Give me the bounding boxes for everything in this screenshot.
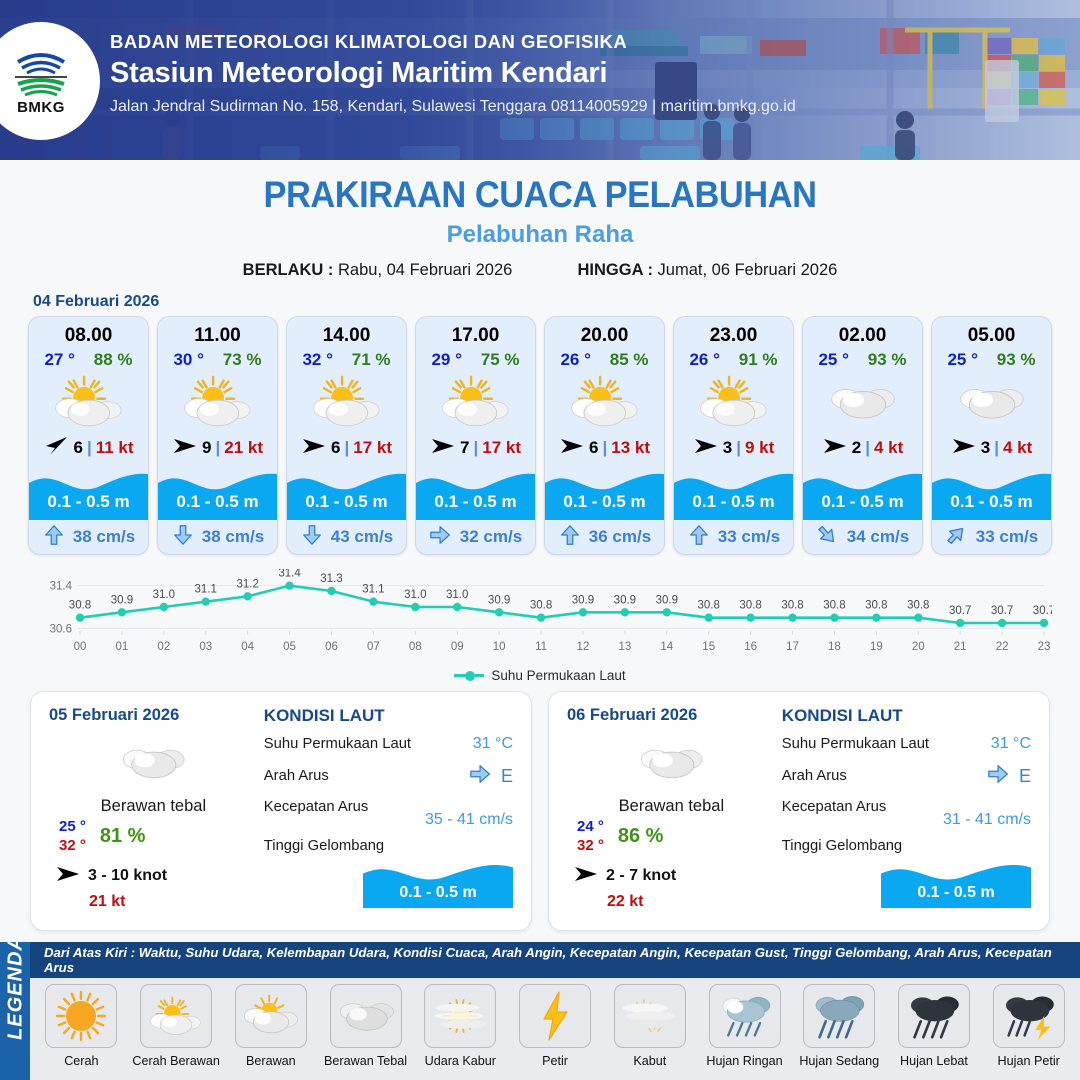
daily-wind-speed: 3 - 10 knot [88, 867, 167, 885]
legend-note: Dari Atas Kiri : Waktu, Suhu Udara, Kele… [30, 942, 1080, 978]
wind-direction-arrow [55, 864, 81, 889]
legend-item: Hujan Petir [981, 984, 1076, 1068]
card-separator: | [865, 438, 870, 458]
card-temp-humidity: 25 ° 93 % [803, 347, 922, 370]
card-separator: | [87, 438, 92, 458]
daily-condition: Berawan tebal [49, 797, 258, 816]
svg-text:30.9: 30.9 [614, 594, 636, 606]
lightning-icon [519, 984, 591, 1048]
agency-name: BADAN METEOROLOGI KLIMATOLOGI DAN GEOFIS… [110, 30, 796, 55]
current-direction-arrow [987, 762, 1011, 790]
svg-text:30.9: 30.9 [656, 594, 678, 606]
legend-item-label: Hujan Petir [998, 1054, 1060, 1068]
chart-legend: Suhu Permukaan Laut [0, 668, 1080, 683]
card-wave-height: 0.1 - 0.5 m [287, 492, 406, 512]
card-time: 05.00 [932, 317, 1051, 347]
forecast-card[interactable]: 05.00 25 ° 93 % 3 | 4 kt 0.1 - 0.5 m 33 … [931, 316, 1052, 555]
daily-temp-max: 32 ° [59, 837, 86, 856]
wind-arrow-icon [693, 436, 719, 456]
sst-row: Suhu Permukaan Laut 31 °C [782, 735, 1031, 753]
forecast-card-row: 08.00 27 ° 88 % 6 | 11 kt 0.1 - 0.5 m [0, 316, 1080, 555]
current-direction-label: Arah Arus [264, 768, 329, 784]
current-direction-arrow [42, 523, 66, 552]
card-temperature: 29 ° [431, 350, 461, 370]
card-wave-height: 0.1 - 0.5 m [932, 492, 1051, 512]
card-current: 43 cm/s [287, 520, 406, 554]
svg-text:22: 22 [996, 641, 1009, 653]
card-humidity: 93 % [997, 350, 1036, 370]
daily-wave-height: 0.1 - 0.5 m [881, 884, 1031, 902]
wave-height-label: Tinggi Gelombang [782, 838, 902, 854]
legend-item: Kabut [602, 984, 697, 1068]
card-current: 32 cm/s [416, 520, 535, 554]
current-arrow-icon [469, 762, 493, 786]
sst-row: Suhu Permukaan Laut 31 °C [264, 735, 513, 753]
cloud-sun-icon [235, 984, 307, 1048]
card-time: 17.00 [416, 317, 535, 347]
current-arrow-icon [300, 523, 324, 547]
daily-temp-min: 24 ° [577, 818, 604, 837]
card-humidity: 85 % [610, 350, 649, 370]
current-direction-arrow [469, 762, 493, 790]
card-wind: 2 | 4 kt [803, 432, 922, 464]
card-wind: 3 | 9 kt [674, 432, 793, 464]
card-current: 34 cm/s [803, 520, 922, 554]
svg-text:07: 07 [367, 641, 380, 653]
current-direction-arrow [687, 523, 711, 552]
legend-item-label: Berawan Tebal [324, 1054, 407, 1068]
card-temperature: 27 ° [44, 350, 74, 370]
card-wave: 0.1 - 0.5 m [29, 464, 148, 520]
current-arrow-icon [687, 523, 711, 547]
light-rain-icon [709, 984, 781, 1048]
svg-text:09: 09 [451, 641, 464, 653]
wind-arrow-icon [43, 435, 69, 457]
wind-direction-arrow [430, 436, 456, 461]
wind-arrow-icon [55, 864, 81, 884]
daily-humidity: 81 % [100, 825, 146, 848]
card-humidity: 73 % [223, 350, 262, 370]
svg-text:30.8: 30.8 [865, 600, 887, 612]
card-temp-humidity: 26 ° 85 % [545, 347, 664, 370]
heavy-cloud-icon [330, 984, 402, 1048]
svg-text:12: 12 [577, 641, 590, 653]
svg-text:21: 21 [954, 641, 967, 653]
card-time: 08.00 [29, 317, 148, 347]
current-arrow-icon [171, 523, 195, 547]
legend-item-label: Hujan Ringan [706, 1054, 782, 1068]
card-wave-height: 0.1 - 0.5 m [674, 492, 793, 512]
card-humidity: 91 % [739, 350, 778, 370]
card-gust: 17 kt [353, 438, 392, 458]
legend-sidebar-label: LEGENDA [5, 930, 28, 1046]
forecast-card[interactable]: 14.00 32 ° 71 % 6 | 17 kt 0.1 - 0.5 m [286, 316, 407, 555]
svg-text:30.7: 30.7 [949, 605, 971, 617]
sun-cloud-icon [158, 372, 277, 432]
legend-item: Hujan Ringan [697, 984, 792, 1068]
card-wave-height: 0.1 - 0.5 m [545, 492, 664, 512]
card-current-speed: 33 cm/s [718, 527, 780, 547]
legend-item-label: Kabut [633, 1054, 666, 1068]
card-separator: | [344, 438, 349, 458]
svg-text:13: 13 [618, 641, 631, 653]
daily-panel-right: KONDISI LAUT Suhu Permukaan Laut 31 °C A… [258, 706, 513, 916]
svg-text:08: 08 [409, 641, 422, 653]
daily-panel-left: 06 Februari 2026 Berawan tebal 24 ° 32 °… [567, 706, 776, 916]
card-current-speed: 34 cm/s [847, 527, 909, 547]
wind-arrow-icon [822, 436, 848, 456]
sst-value: 31 °C [473, 735, 513, 753]
valid-until-label: HINGGA : [577, 261, 652, 279]
sst-label: Suhu Permukaan Laut [782, 736, 929, 752]
current-direction-row: Arah Arus E [264, 762, 513, 790]
wind-direction-arrow [822, 436, 848, 461]
current-arrow-icon [429, 523, 453, 547]
current-direction-arrow [171, 523, 195, 552]
card-gust: 4 kt [874, 438, 903, 458]
svg-text:30.9: 30.9 [572, 594, 594, 606]
fog-icon [614, 984, 686, 1048]
daily-humidity: 86 % [618, 825, 664, 848]
svg-text:30.9: 30.9 [111, 594, 133, 606]
svg-text:04: 04 [241, 641, 254, 653]
card-current-speed: 36 cm/s [589, 527, 651, 547]
card-gust: 13 kt [611, 438, 650, 458]
card-wind-direction: 3 [723, 438, 732, 458]
sea-condition-title: KONDISI LAUT [782, 706, 1031, 726]
card-wind-direction: 6 [73, 438, 82, 458]
haze-icon [424, 984, 496, 1048]
card-time: 20.00 [545, 317, 664, 347]
svg-text:30.8: 30.8 [69, 600, 91, 612]
card-current-speed: 43 cm/s [331, 527, 393, 547]
heavy-rain-icon [898, 984, 970, 1048]
daily-gust: 22 kt [567, 893, 776, 911]
current-speed-label: Kecepatan Arus [782, 799, 886, 815]
forecast-card[interactable]: 17.00 29 ° 75 % 7 | 17 kt 0.1 - 0.5 m [415, 316, 536, 555]
card-wind: 9 | 21 kt [158, 432, 277, 464]
sun-cloud-icon [29, 372, 148, 432]
daily-wind: 3 - 10 knot [49, 864, 258, 889]
card-separator: | [473, 438, 478, 458]
valid-from-label: BERLAKU : [243, 261, 334, 279]
sun-cloud-icon [140, 984, 212, 1048]
moderate-rain-icon [803, 984, 875, 1048]
card-time: 23.00 [674, 317, 793, 347]
svg-text:06: 06 [325, 641, 338, 653]
card-wind-direction: 9 [202, 438, 211, 458]
card-humidity: 71 % [352, 350, 391, 370]
svg-text:31.1: 31.1 [362, 584, 384, 596]
sea-condition-title: KONDISI LAUT [264, 706, 513, 726]
svg-text:31.0: 31.0 [404, 589, 426, 601]
wind-direction-arrow [172, 436, 198, 461]
daily-panel-right: KONDISI LAUT Suhu Permukaan Laut 31 °C A… [776, 706, 1031, 916]
card-wind-direction: 6 [589, 438, 598, 458]
daily-panel-left: 05 Februari 2026 Berawan tebal 25 ° 32 °… [49, 706, 258, 916]
card-wind-direction: 2 [852, 438, 861, 458]
card-wave-height: 0.1 - 0.5 m [803, 492, 922, 512]
forecast-date-label: 04 Februari 2026 [33, 293, 1080, 311]
card-wind-direction: 3 [981, 438, 990, 458]
card-temp-humidity: 25 ° 93 % [932, 347, 1051, 370]
legend-item-label: Petir [542, 1054, 568, 1068]
current-arrow-icon [558, 523, 582, 547]
card-wind: 6 | 13 kt [545, 432, 664, 464]
forecast-card[interactable]: 08.00 27 ° 88 % 6 | 11 kt 0.1 - 0.5 m [28, 316, 149, 555]
card-current-speed: 32 cm/s [460, 527, 522, 547]
svg-text:18: 18 [828, 641, 841, 653]
daily-date: 06 Februari 2026 [567, 706, 776, 725]
current-direction-arrow [945, 523, 969, 552]
current-direction-arrow [558, 523, 582, 552]
svg-text:19: 19 [870, 641, 883, 653]
card-time: 14.00 [287, 317, 406, 347]
card-current-speed: 33 cm/s [976, 527, 1038, 547]
wave-height-row: Tinggi Gelombang [264, 838, 513, 854]
wind-arrow-icon [573, 864, 599, 884]
svg-text:01: 01 [116, 641, 129, 653]
card-gust: 21 kt [224, 438, 263, 458]
svg-text:30.8: 30.8 [781, 600, 803, 612]
card-temp-humidity: 29 ° 75 % [416, 347, 535, 370]
station-address: Jalan Jendral Sudirman No. 158, Kendari,… [110, 95, 796, 120]
cloud-icon [567, 731, 776, 793]
wind-arrow-icon [301, 436, 327, 456]
cloud-icon [49, 731, 258, 793]
card-current: 33 cm/s [674, 520, 793, 554]
legend-item-label: Hujan Sedang [799, 1054, 879, 1068]
card-wave: 0.1 - 0.5 m [416, 464, 535, 520]
sst-value: 31 °C [991, 735, 1031, 753]
svg-text:31.0: 31.0 [446, 589, 468, 601]
legend-section: LEGENDA Dari Atas Kiri : Waktu, Suhu Uda… [0, 942, 1080, 1080]
svg-text:30.9: 30.9 [488, 594, 510, 606]
svg-text:30.8: 30.8 [907, 600, 929, 612]
card-wind: 7 | 17 kt [416, 432, 535, 464]
svg-text:17: 17 [786, 641, 799, 653]
current-direction-arrow [816, 523, 840, 552]
card-current: 38 cm/s [158, 520, 277, 554]
daily-date: 05 Februari 2026 [49, 706, 258, 725]
svg-text:30.7: 30.7 [1033, 605, 1052, 617]
sst-chart-svg: 30.631.400010203040506070809101112131415… [28, 569, 1052, 664]
daily-wind-speed: 2 - 7 knot [606, 867, 676, 885]
wind-direction-arrow [693, 436, 719, 461]
svg-text:23: 23 [1038, 641, 1051, 653]
current-direction-value: E [1019, 766, 1031, 787]
card-temp-humidity: 30 ° 73 % [158, 347, 277, 370]
legend-item: Berawan Tebal [318, 984, 413, 1068]
svg-text:31.2: 31.2 [236, 578, 258, 590]
forecast-card[interactable]: 02.00 25 ° 93 % 2 | 4 kt 0.1 - 0.5 m 34 … [802, 316, 923, 555]
current-direction-row: Arah Arus E [782, 762, 1031, 790]
card-temperature: 32 ° [302, 350, 332, 370]
page-title: PRAKIRAAN CUACA PELABUHAN [38, 174, 1042, 216]
legend-item: Hujan Lebat [887, 984, 982, 1068]
forecast-card[interactable]: 11.00 30 ° 73 % 9 | 21 kt 0.1 - 0.5 m [157, 316, 278, 555]
svg-text:31.0: 31.0 [153, 589, 175, 601]
card-current-speed: 38 cm/s [73, 527, 135, 547]
daily-temp-max: 32 ° [577, 837, 604, 856]
card-time: 02.00 [803, 317, 922, 347]
current-speed-label: Kecepatan Arus [264, 799, 368, 815]
svg-text:00: 00 [74, 641, 87, 653]
card-temperature: 25 ° [947, 350, 977, 370]
legend-sidebar: LEGENDA [0, 942, 30, 1080]
card-wave: 0.1 - 0.5 m [545, 464, 664, 520]
sun-cloud-icon [287, 372, 406, 432]
chart-legend-marker [454, 674, 484, 677]
legend-item: Cerah [34, 984, 129, 1068]
svg-text:30.8: 30.8 [823, 600, 845, 612]
card-temp-humidity: 32 ° 71 % [287, 347, 406, 370]
card-current-speed: 38 cm/s [202, 527, 264, 547]
card-wave-height: 0.1 - 0.5 m [416, 492, 535, 512]
daily-condition: Berawan tebal [567, 797, 776, 816]
card-temperature: 30 ° [173, 350, 203, 370]
svg-text:14: 14 [660, 641, 673, 653]
svg-text:11: 11 [535, 641, 547, 653]
sun-cloud-icon [545, 372, 664, 432]
card-temperature: 26 ° [560, 350, 590, 370]
current-direction-arrow [429, 523, 453, 552]
card-wave: 0.1 - 0.5 m [158, 464, 277, 520]
wind-arrow-icon [430, 436, 456, 456]
svg-text:30.7: 30.7 [991, 605, 1013, 617]
sst-chart: 30.631.400010203040506070809101112131415… [28, 569, 1052, 664]
cloud-icon [932, 372, 1051, 432]
card-current: 33 cm/s [932, 520, 1051, 554]
legend-item: Cerah Berawan [129, 984, 224, 1068]
card-time: 11.00 [158, 317, 277, 347]
svg-text:20: 20 [912, 641, 925, 653]
card-wind-direction: 7 [460, 438, 469, 458]
card-gust: 4 kt [1003, 438, 1032, 458]
card-temp-humidity: 27 ° 88 % [29, 347, 148, 370]
legend-item: Udara Kabur [413, 984, 508, 1068]
card-humidity: 88 % [94, 350, 133, 370]
card-gust: 9 kt [745, 438, 774, 458]
current-direction-arrow [300, 523, 324, 552]
card-temperature: 26 ° [689, 350, 719, 370]
svg-text:16: 16 [744, 641, 757, 653]
legend-item: Hujan Sedang [792, 984, 887, 1068]
svg-text:31.4: 31.4 [50, 581, 73, 593]
card-separator: | [736, 438, 741, 458]
svg-text:31.1: 31.1 [195, 584, 217, 596]
page-header: BMKG BADAN METEOROLOGI KLIMATOLOGI DAN G… [0, 0, 1080, 160]
daily-gust: 21 kt [49, 893, 258, 911]
valid-until-value: Jumat, 06 Februari 2026 [658, 261, 838, 279]
title-block: PRAKIRAAN CUACA PELABUHAN Pelabuhan Raha… [0, 160, 1080, 280]
wind-arrow-icon [559, 436, 585, 456]
card-current: 36 cm/s [545, 520, 664, 554]
legend-item-label: Udara Kabur [425, 1054, 496, 1068]
current-arrow-icon [987, 762, 1011, 786]
valid-from-value: Rabu, 04 Februari 2026 [338, 261, 512, 279]
header-text-block: BADAN METEOROLOGI KLIMATOLOGI DAN GEOFIS… [110, 30, 796, 119]
bmkg-logo-mark [10, 46, 72, 98]
wind-direction-arrow [301, 436, 327, 461]
svg-text:30.8: 30.8 [530, 600, 552, 612]
port-name: Pelabuhan Raha [0, 221, 1080, 249]
card-wave-height: 0.1 - 0.5 m [29, 492, 148, 512]
daily-temp-block: 24 ° 32 ° 86 % [567, 818, 776, 856]
daily-wave-graphic: 0.1 - 0.5 m [881, 856, 1031, 908]
sun-cloud-icon [674, 372, 793, 432]
legend-item: Petir [508, 984, 603, 1068]
svg-text:05: 05 [283, 641, 296, 653]
daily-wave-height: 0.1 - 0.5 m [363, 884, 513, 902]
svg-text:15: 15 [702, 641, 715, 653]
svg-text:02: 02 [157, 641, 170, 653]
current-arrow-icon [945, 523, 969, 547]
current-direction-value: E [501, 766, 513, 787]
sst-label: Suhu Permukaan Laut [264, 736, 411, 752]
chart-legend-label: Suhu Permukaan Laut [491, 668, 625, 683]
legend-item-label: Hujan Lebat [900, 1054, 968, 1068]
card-wave-height: 0.1 - 0.5 m [158, 492, 277, 512]
card-humidity: 75 % [481, 350, 520, 370]
svg-text:30.8: 30.8 [739, 600, 761, 612]
svg-text:10: 10 [493, 641, 506, 653]
svg-text:03: 03 [199, 641, 212, 653]
svg-text:31.3: 31.3 [320, 573, 342, 585]
validity-row: BERLAKU : Rabu, 04 Februari 2026 HINGGA … [0, 261, 1080, 280]
bmkg-logo-text: BMKG [17, 99, 65, 116]
card-wave: 0.1 - 0.5 m [674, 464, 793, 520]
forecast-card[interactable]: 23.00 26 ° 91 % 3 | 9 kt 0.1 - 0.5 m [673, 316, 794, 555]
daily-panel-row: 05 Februari 2026 Berawan tebal 25 ° 32 °… [0, 683, 1080, 931]
daily-temp-block: 25 ° 32 ° 81 % [49, 818, 258, 856]
current-direction-label: Arah Arus [782, 768, 847, 784]
svg-text:30.6: 30.6 [50, 623, 72, 635]
current-arrow-icon [42, 523, 66, 547]
legend-item-label: Cerah Berawan [132, 1054, 220, 1068]
wind-arrow-icon [172, 436, 198, 456]
wave-height-label: Tinggi Gelombang [264, 838, 384, 854]
card-wind: 6 | 17 kt [287, 432, 406, 464]
wind-direction-arrow [43, 435, 69, 462]
wind-direction-arrow [573, 864, 599, 889]
card-current: 38 cm/s [29, 520, 148, 554]
card-wave: 0.1 - 0.5 m [932, 464, 1051, 520]
card-temperature: 25 ° [818, 350, 848, 370]
legend-item-label: Berawan [246, 1054, 296, 1068]
card-wind: 3 | 4 kt [932, 432, 1051, 464]
svg-text:30.8: 30.8 [698, 600, 720, 612]
forecast-card[interactable]: 20.00 26 ° 85 % 6 | 13 kt 0.1 - 0.5 m [544, 316, 665, 555]
card-wave: 0.1 - 0.5 m [803, 464, 922, 520]
legend-item: Berawan [223, 984, 318, 1068]
thunderstorm-icon [993, 984, 1065, 1048]
card-separator: | [994, 438, 999, 458]
svg-text:31.4: 31.4 [278, 569, 301, 580]
card-humidity: 93 % [868, 350, 907, 370]
daily-wave-graphic: 0.1 - 0.5 m [363, 856, 513, 908]
card-wind: 6 | 11 kt [29, 432, 148, 464]
daily-forecast-panel[interactable]: 06 Februari 2026 Berawan tebal 24 ° 32 °… [548, 691, 1050, 931]
card-separator: | [602, 438, 607, 458]
daily-wind: 2 - 7 knot [567, 864, 776, 889]
wind-direction-arrow [951, 436, 977, 461]
legend-item-row: Cerah Cerah Berawan Berawan Berawan Teba… [30, 978, 1080, 1080]
sun-cloud-icon [416, 372, 535, 432]
daily-forecast-panel[interactable]: 05 Februari 2026 Berawan tebal 25 ° 32 °… [30, 691, 532, 931]
wave-height-row: Tinggi Gelombang [782, 838, 1031, 854]
cloud-icon [803, 372, 922, 432]
